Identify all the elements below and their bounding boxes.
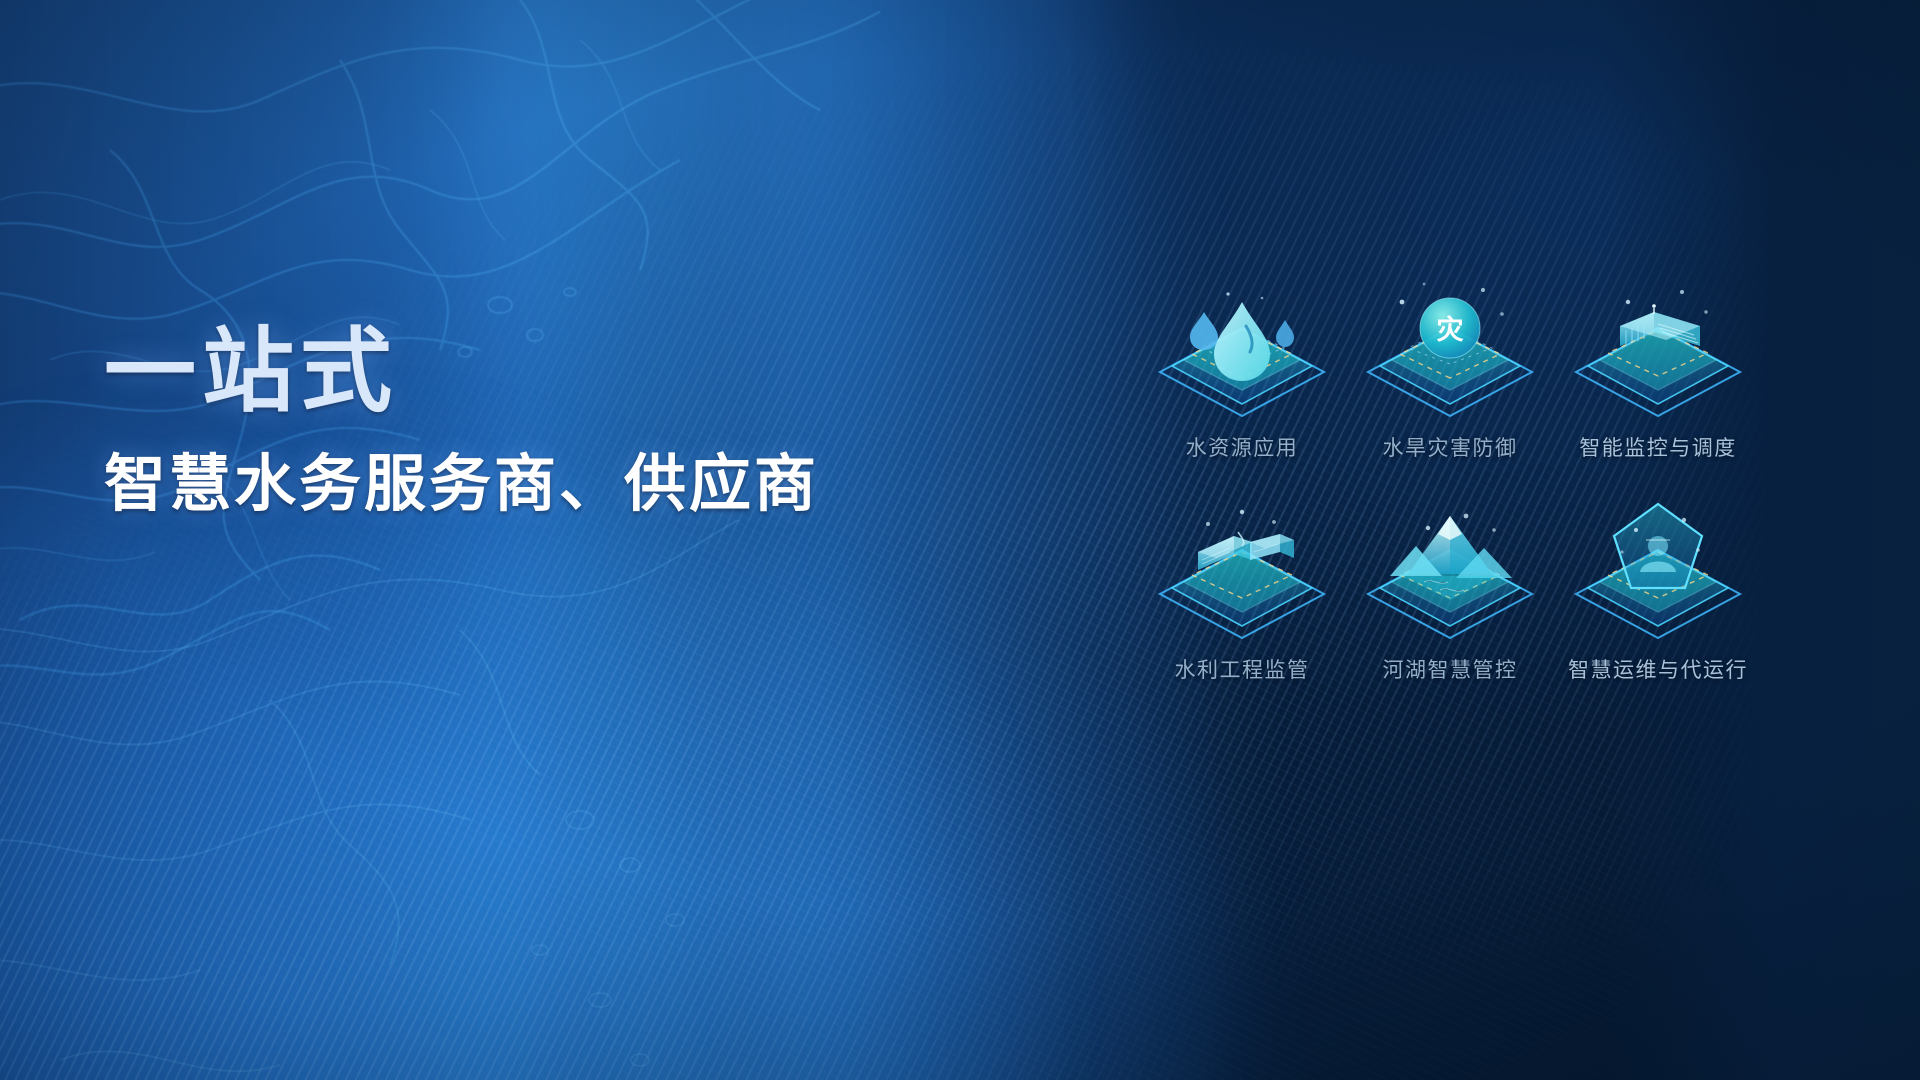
page-title: 一站式 bbox=[104, 326, 819, 418]
disaster-badge-text: 灾 bbox=[1437, 314, 1464, 345]
capability-item-water-resource-application[interactable]: 水资源应用 bbox=[1142, 268, 1342, 490]
capability-label: 智慧运维与代运行 bbox=[1568, 654, 1748, 684]
capability-label: 河湖智慧管控 bbox=[1383, 654, 1518, 684]
engineering-building-icon bbox=[1142, 490, 1342, 650]
mountain-river-icon bbox=[1350, 490, 1550, 650]
slide-canvas: 一站式 智慧水务服务商、供应商 bbox=[0, 0, 1920, 1080]
shield-pentagon-icon bbox=[1558, 490, 1758, 650]
headline-block: 一站式 智慧水务服务商、供应商 bbox=[104, 326, 819, 516]
capability-label: 智能监控与调度 bbox=[1579, 432, 1737, 462]
capability-label: 水利工程监管 bbox=[1175, 654, 1310, 684]
capability-item-flood-drought-disaster-defense[interactable]: 灾 水旱灾害防御 bbox=[1350, 268, 1550, 490]
capability-label: 水资源应用 bbox=[1186, 432, 1299, 462]
water-drop-icon bbox=[1142, 268, 1342, 428]
dam-monitor-icon bbox=[1558, 268, 1758, 428]
capability-item-river-lake-smart-control[interactable]: 河湖智慧管控 bbox=[1350, 490, 1550, 712]
capability-grid: 水资源应用 bbox=[1142, 268, 1758, 712]
capability-item-water-conservancy-project-supervision[interactable]: 水利工程监管 bbox=[1142, 490, 1342, 712]
disaster-sphere-icon: 灾 bbox=[1350, 268, 1550, 428]
capability-item-smart-ops-and-managed-service[interactable]: 智慧运维与代运行 bbox=[1558, 490, 1758, 712]
capability-item-intelligent-monitor-dispatch[interactable]: 智能监控与调度 bbox=[1558, 268, 1758, 490]
page-subtitle: 智慧水务服务商、供应商 bbox=[104, 454, 819, 516]
capability-label: 水旱灾害防御 bbox=[1383, 432, 1518, 462]
